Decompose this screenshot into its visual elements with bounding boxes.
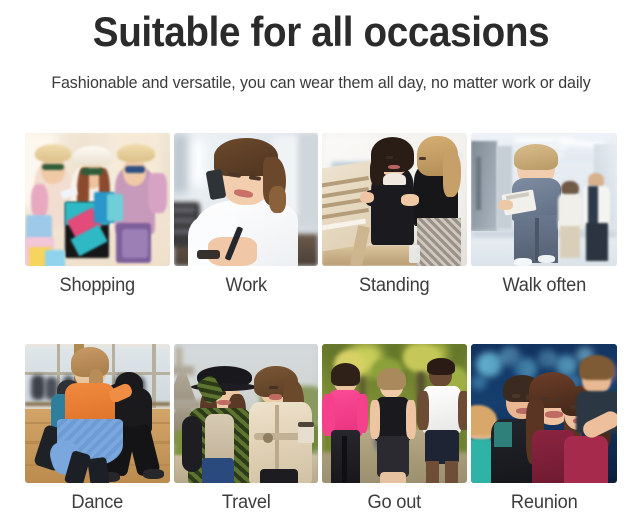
travel-photo <box>174 344 319 483</box>
go-out-photo <box>322 344 467 483</box>
occasion-cell-work[interactable]: Work <box>174 133 319 297</box>
work-photo <box>174 133 319 266</box>
occasion-cell-walk-often[interactable]: Walk often <box>471 133 618 297</box>
occasion-cell-shopping[interactable]: Shopping <box>25 133 170 297</box>
occasion-label: Travel <box>176 483 315 514</box>
occasion-label: Go out <box>325 483 464 514</box>
occasions-page: Suitable for all occasions Fashionable a… <box>0 0 642 521</box>
dance-photo <box>25 344 170 483</box>
occasions-grid: Shopping <box>25 133 617 514</box>
occasion-cell-go-out[interactable]: Go out <box>322 344 467 514</box>
walk-often-photo <box>471 133 618 266</box>
reunion-photo <box>471 344 618 483</box>
occasion-label: Reunion <box>473 483 614 514</box>
occasion-cell-dance[interactable]: Dance <box>25 344 170 514</box>
grid-row-1: Shopping <box>25 133 617 297</box>
page-subtitle: Fashionable and versatile, you can wear … <box>10 56 633 93</box>
occasion-cell-standing[interactable]: Standing <box>322 133 467 297</box>
occasion-label: Work <box>176 266 315 297</box>
occasion-label: Standing <box>325 266 464 297</box>
occasion-label: Shopping <box>28 266 167 297</box>
page-header: Suitable for all occasions Fashionable a… <box>0 0 642 93</box>
shopping-photo <box>25 133 170 266</box>
occasion-cell-travel[interactable]: Travel <box>174 344 319 514</box>
occasion-label: Walk often <box>473 266 614 297</box>
occasion-label: Dance <box>28 483 167 514</box>
standing-photo <box>322 133 467 266</box>
occasion-cell-reunion[interactable]: Reunion <box>471 344 618 514</box>
grid-row-2: Dance <box>25 344 617 514</box>
page-title: Suitable for all occasions <box>26 8 617 56</box>
